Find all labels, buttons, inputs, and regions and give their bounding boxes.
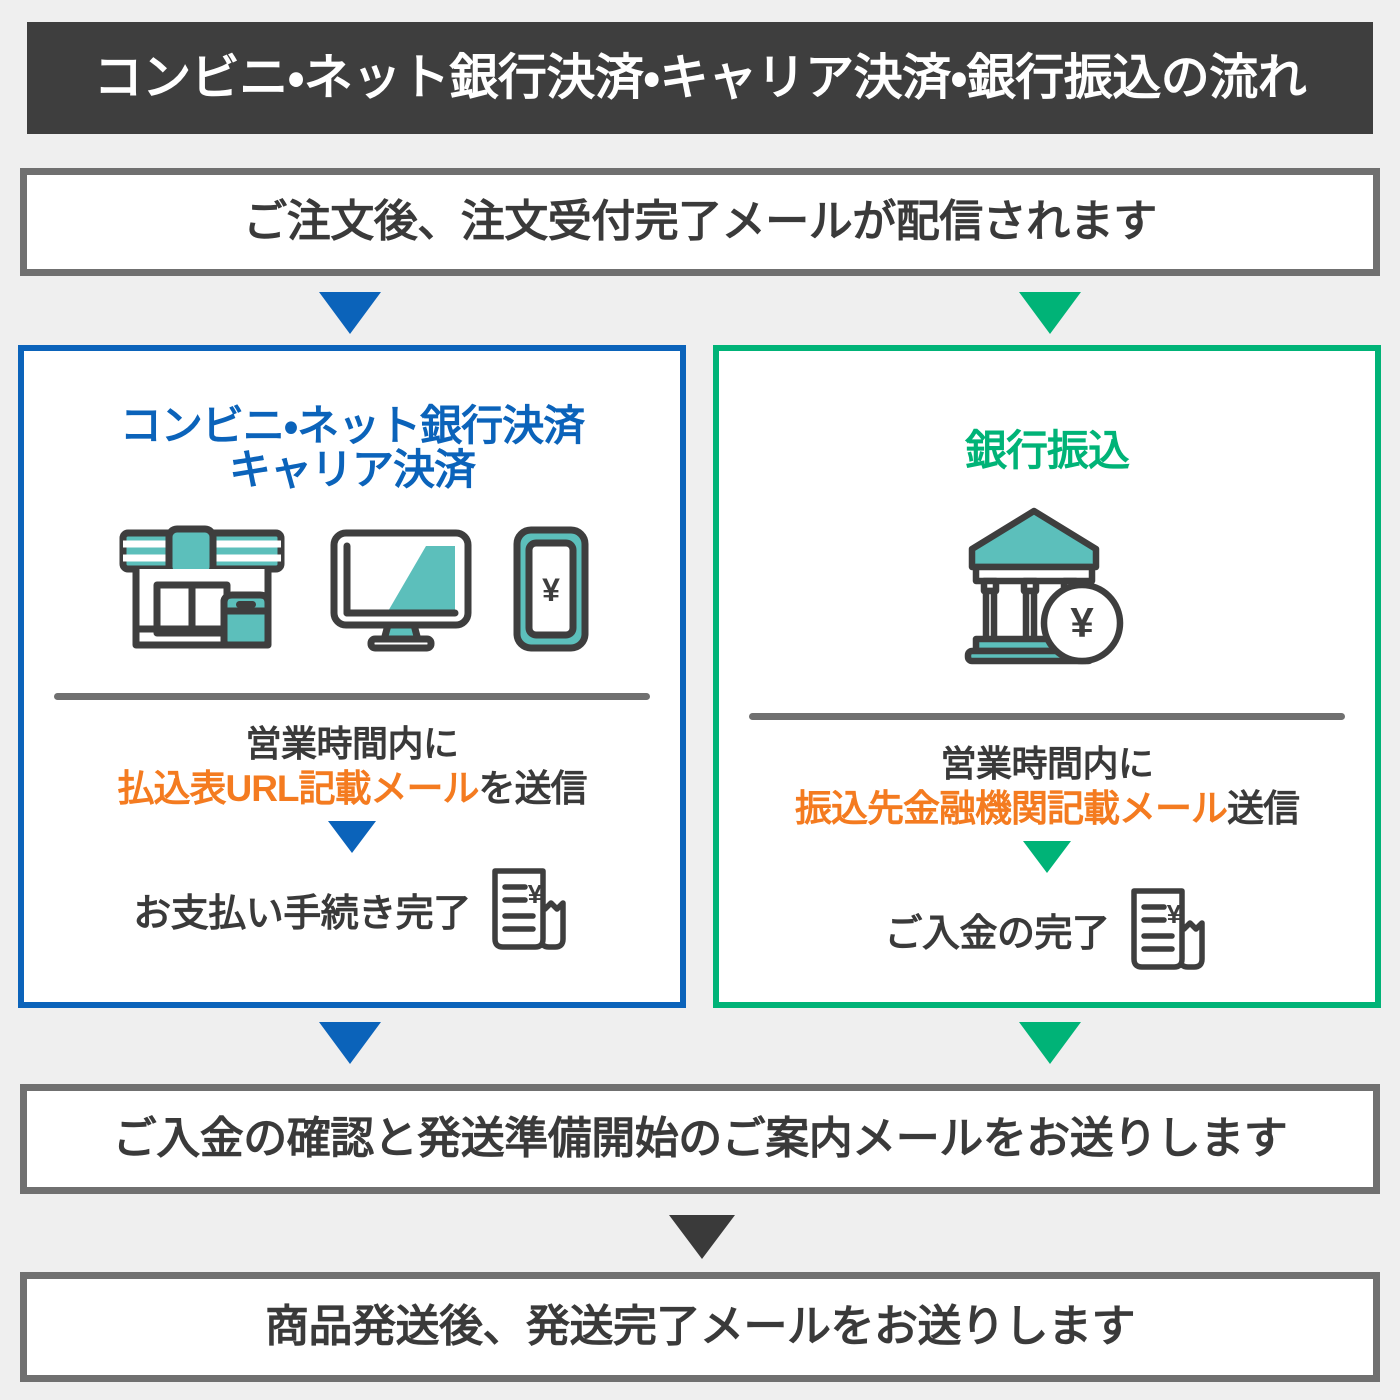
svg-text:¥: ¥ [1070,599,1094,646]
conveni-notice-rest: を送信 [479,768,587,809]
bank-icon-row: ¥ [719,505,1375,670]
bank-small-arrow-wrap [719,841,1375,873]
conveni-small-arrow-wrap [24,821,680,853]
receipt-icon: ¥ [485,861,571,958]
conveni-notice: 営業時間内に 払込表URL記載メールを送信 [24,722,680,811]
step-payment-confirmed-label: ご入金の確認と発送準備開始のご案内メールをお送りします [113,1117,1288,1161]
bank-notice-rest: 送信 [1227,788,1299,829]
bank-notice-highlight: 振込先金融機関記載メール [795,788,1227,829]
step-shipped-label: 商品発送後、発送完了メールをお送りします [265,1305,1135,1349]
step-order-confirmation-box: ご注文後、注文受付完了メールが配信されます [20,168,1380,276]
arrow-down-to-conveni-icon [319,292,381,334]
desktop-monitor-icon [326,525,476,658]
arrow-down-to-bank-icon [1019,292,1081,334]
conveni-final-label: お支払い手続き完了 [133,882,471,937]
bank-notice-line2: 振込先金融機関記載メール送信 [719,786,1375,831]
arrow-down-conveni-final-icon [328,821,376,853]
svg-text:¥: ¥ [1166,899,1181,929]
svg-text:¥: ¥ [542,572,560,608]
payment-flow-diagram: コンビニ・ネット銀行決済・キャリア決済・銀行振込の流れ ご注文後、注文受付完了メ… [0,0,1400,1400]
branch-panel-bank: 銀行振込 [713,345,1381,1008]
conveni-divider [54,693,650,700]
diagram-title-bar: コンビニ・ネット銀行決済・キャリア決済・銀行振込の流れ [27,22,1373,134]
svg-text:¥: ¥ [528,879,543,909]
step-payment-confirmed-box: ご入金の確認と発送準備開始のご案内メールをお送りします [20,1084,1380,1194]
bank-divider [749,713,1345,720]
branch-heading-bank: 銀行振込 [719,429,1375,473]
step-shipped-box: 商品発送後、発送完了メールをお送りします [20,1272,1380,1382]
bank-notice-line1: 営業時間内に [719,742,1375,786]
diagram-title: コンビニ・ネット銀行決済・キャリア決済・銀行振込の流れ [94,54,1306,103]
arrow-down-bank-final-icon [1023,841,1071,873]
arrow-down-to-shipped-icon [669,1215,735,1259]
bank-building-yen-icon: ¥ [958,505,1136,670]
conveni-notice-highlight: 払込表URL記載メール [117,768,478,809]
branch-heading-conveni: コンビニ・ネット銀行決済 キャリア決済 [24,404,680,492]
arrow-down-from-conveni-icon [319,1022,381,1064]
step-order-confirmation-label: ご注文後、注文受付完了メールが配信されます [243,200,1157,244]
conveni-notice-line1: 営業時間内に [24,722,680,766]
arrow-down-from-bank-icon [1019,1022,1081,1064]
receipt-icon: ¥ [1124,881,1210,978]
branch-panel-conveni: コンビニ・ネット銀行決済 キャリア決済 [18,345,686,1008]
smartphone-yen-icon: ¥ [510,525,592,658]
conveni-final-row: お支払い手続き完了 ¥ [24,861,680,958]
conveni-icon-row: ¥ [24,525,680,658]
bank-notice: 営業時間内に 振込先金融機関記載メール送信 [719,742,1375,831]
convenience-store-icon [112,525,292,658]
bank-final-row: ご入金の完了 ¥ [719,881,1375,978]
bank-final-label: ご入金の完了 [884,902,1109,957]
conveni-notice-line2: 払込表URL記載メールを送信 [24,766,680,811]
